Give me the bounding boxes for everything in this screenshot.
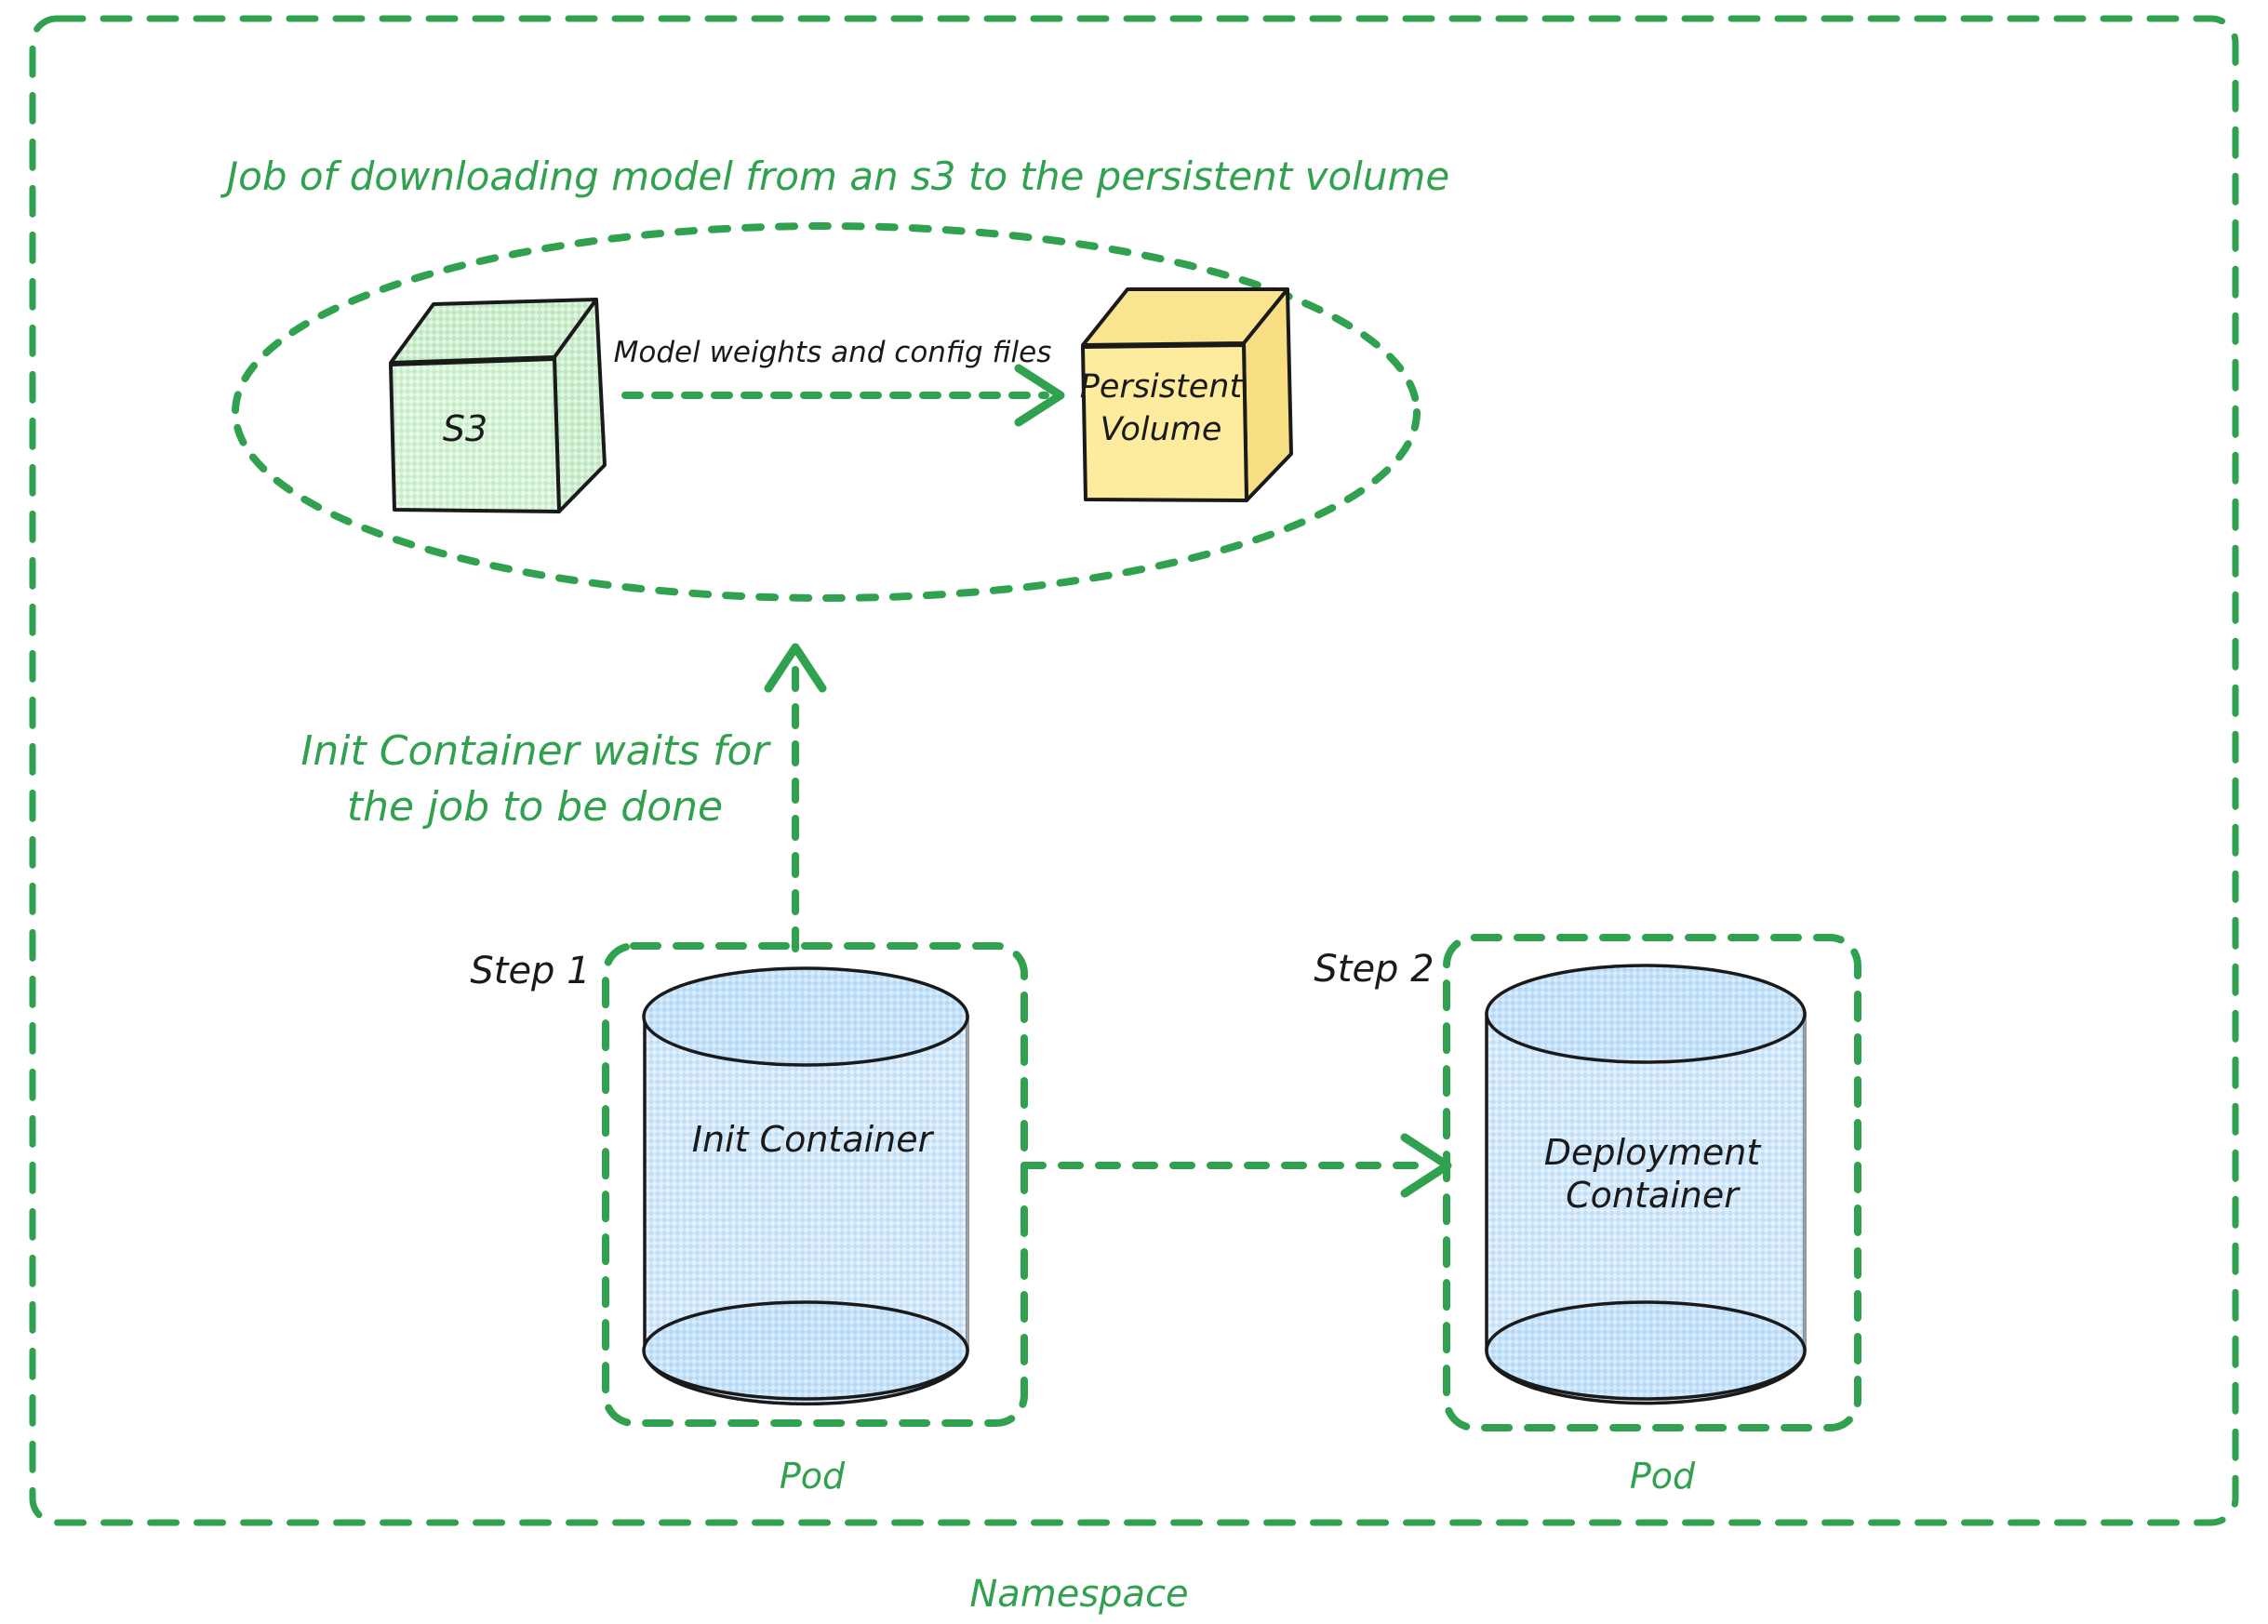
- namespace-label: Namespace: [969, 1573, 1188, 1616]
- s3-cube: [391, 300, 605, 512]
- job-group-title: Job of downloading model from an s3 to t…: [220, 153, 1449, 199]
- kubernetes-architecture-diagram: S3 Persistent Volume Model weights and c…: [0, 0, 2268, 1624]
- deployment-container-label-line2: Container: [1566, 1175, 1741, 1216]
- pod-2-step-label: Step 2: [1314, 948, 1434, 991]
- pod-1-step-label: Step 1: [470, 950, 590, 992]
- wait-note-line1: Init Container waits for: [300, 727, 771, 775]
- persistent-volume-label-line2: Volume: [1101, 411, 1222, 448]
- persistent-volume-label-line1: Persistent: [1080, 368, 1244, 406]
- s3-to-pv-arrow-label: Model weights and config files: [614, 336, 1052, 369]
- init-to-deployment-arrow: [1024, 1138, 1448, 1193]
- diagram-canvas: S3 Persistent Volume Model weights and c…: [0, 0, 2268, 1624]
- init-container-label: Init Container: [692, 1119, 935, 1160]
- deployment-container-label-line1: Deployment: [1544, 1132, 1763, 1173]
- s3-cube-label: S3: [443, 408, 487, 449]
- pod-2-label: Pod: [1630, 1456, 1696, 1497]
- init-to-job-arrow: [768, 647, 822, 949]
- init-container-cylinder: [644, 968, 967, 1404]
- s3-to-pv-arrow: [625, 368, 1061, 422]
- pod-1-label: Pod: [780, 1456, 846, 1497]
- wait-note-line2: the job to be done: [347, 783, 723, 831]
